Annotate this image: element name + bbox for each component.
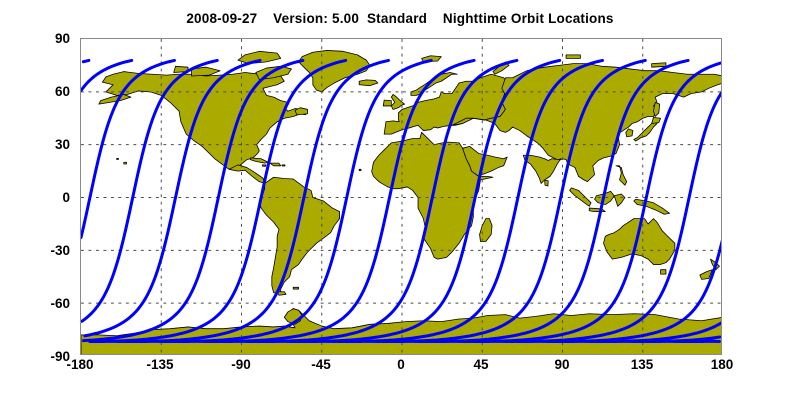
land-hawaii (124, 162, 127, 164)
y-tick-label--60: -60 (26, 296, 70, 311)
orbit-map-figure: 2008-09-27 Version: 5.00 Standard Nightt… (0, 0, 800, 400)
y-tick-label-30: 30 (26, 137, 70, 152)
land-sri-lanka (545, 180, 549, 186)
x-tick-label--135: -135 (130, 357, 190, 372)
y-tick-label-0: 0 (26, 190, 70, 205)
y-tick-label-90: 90 (26, 31, 70, 46)
x-tick-label-180: 180 (692, 357, 752, 372)
land-hawaii-kauai (117, 158, 119, 159)
world-map-svg (81, 39, 721, 354)
land-falklands (293, 287, 298, 289)
y-tick-label--30: -30 (26, 243, 70, 258)
x-tick-label-135: 135 (612, 357, 672, 372)
land-severnaya-zemlya (566, 55, 580, 59)
orbit-track-14 (83, 60, 89, 61)
land-tasmania (661, 270, 666, 274)
x-tick-label--90: -90 (211, 357, 271, 372)
land-hokkaido (652, 117, 661, 123)
x-tick-label-45: 45 (451, 357, 511, 372)
x-tick-label-90: 90 (532, 357, 592, 372)
plot-area (80, 38, 722, 355)
land-ireland (383, 100, 391, 106)
x-tick-label--180: -180 (50, 357, 110, 372)
land-jamaica (262, 165, 266, 166)
figure-title: 2008-09-27 Version: 5.00 Standard Nightt… (0, 11, 800, 26)
y-tick-label-60: 60 (26, 84, 70, 99)
land-new-siberian-islands (652, 63, 666, 67)
land-puerto-rico (282, 165, 285, 166)
land-cape-verde (359, 169, 361, 170)
x-tick-label--45: -45 (291, 357, 351, 372)
plot-canvas (81, 39, 721, 354)
x-tick-label-0: 0 (371, 357, 431, 372)
